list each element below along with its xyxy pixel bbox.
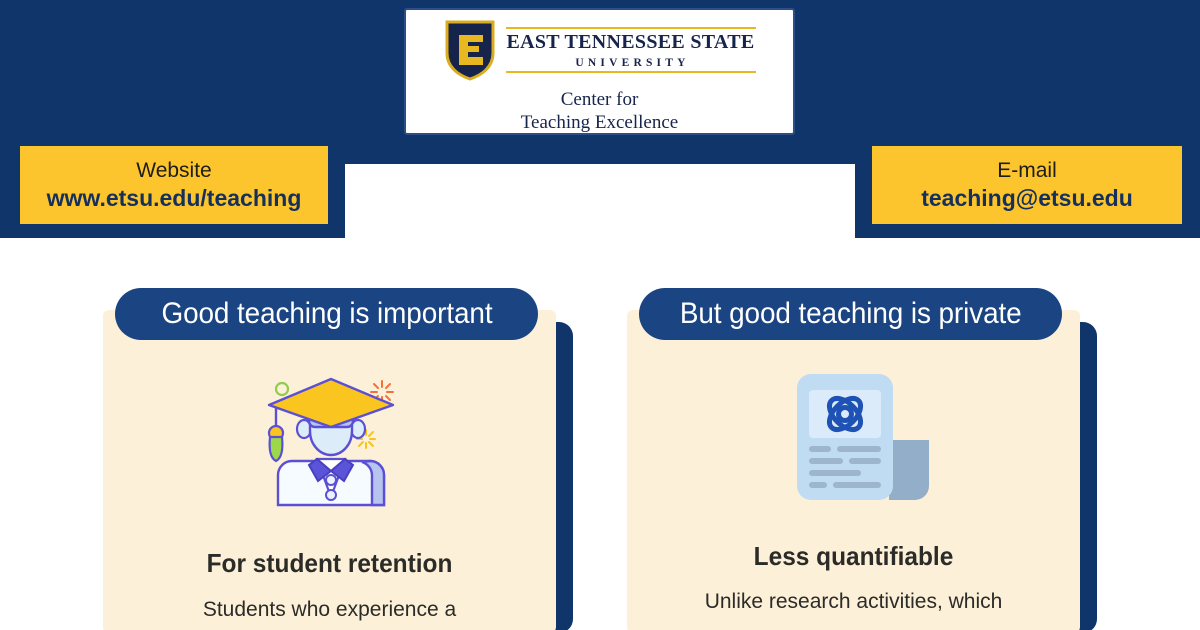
etsu-shield-icon [444,19,496,81]
center-name-line1: Center for [521,88,678,111]
wordmark-rule-bottom [506,71,756,73]
contact-label-email: E-mail [997,158,1057,184]
etsu-logo-plaque: EAST TENNESSEE STATE UNIVERSITY Center f… [404,8,795,135]
contact-label-website: Website [136,158,211,184]
graduate-student-icon [103,370,573,510]
wordmark-line2: UNIVERSITY [506,56,756,71]
header-notch [345,164,855,240]
card-but-good-teaching-is-private: But good teaching is private [627,288,1097,630]
contact-value-website[interactable]: www.etsu.edu/teaching [47,184,302,213]
contact-value-email[interactable]: teaching@etsu.edu [921,184,1133,213]
card-body-text: Students who experience a [103,596,556,624]
slide-root: EAST TENNESSEE STATE UNIVERSITY Center f… [0,0,1200,630]
card-body-text: Unlike research activities, which [627,588,1080,616]
center-name-line2: Teaching Excellence [521,111,678,134]
research-document-icon [627,373,1097,503]
contact-box-website[interactable]: Website www.etsu.edu/teaching [20,146,328,224]
card-heading-pill: Good teaching is important [115,288,538,340]
card-heading-pill: But good teaching is private [639,288,1062,340]
card-good-teaching-is-important: Good teaching is important [103,288,573,630]
card-heading-text: But good teaching is private [680,297,1022,331]
center-name: Center for Teaching Excellence [521,88,678,134]
logo-lockup: EAST TENNESSEE STATE UNIVERSITY [444,19,756,81]
card-heading-text: Good teaching is important [161,297,492,331]
card-subtitle: For student retention [117,548,543,579]
contact-box-email[interactable]: E-mail teaching@etsu.edu [872,146,1182,224]
wordmark-line1: EAST TENNESSEE STATE [506,29,756,56]
etsu-wordmark: EAST TENNESSEE STATE UNIVERSITY [506,27,756,73]
card-subtitle: Less quantifiable [641,541,1067,572]
